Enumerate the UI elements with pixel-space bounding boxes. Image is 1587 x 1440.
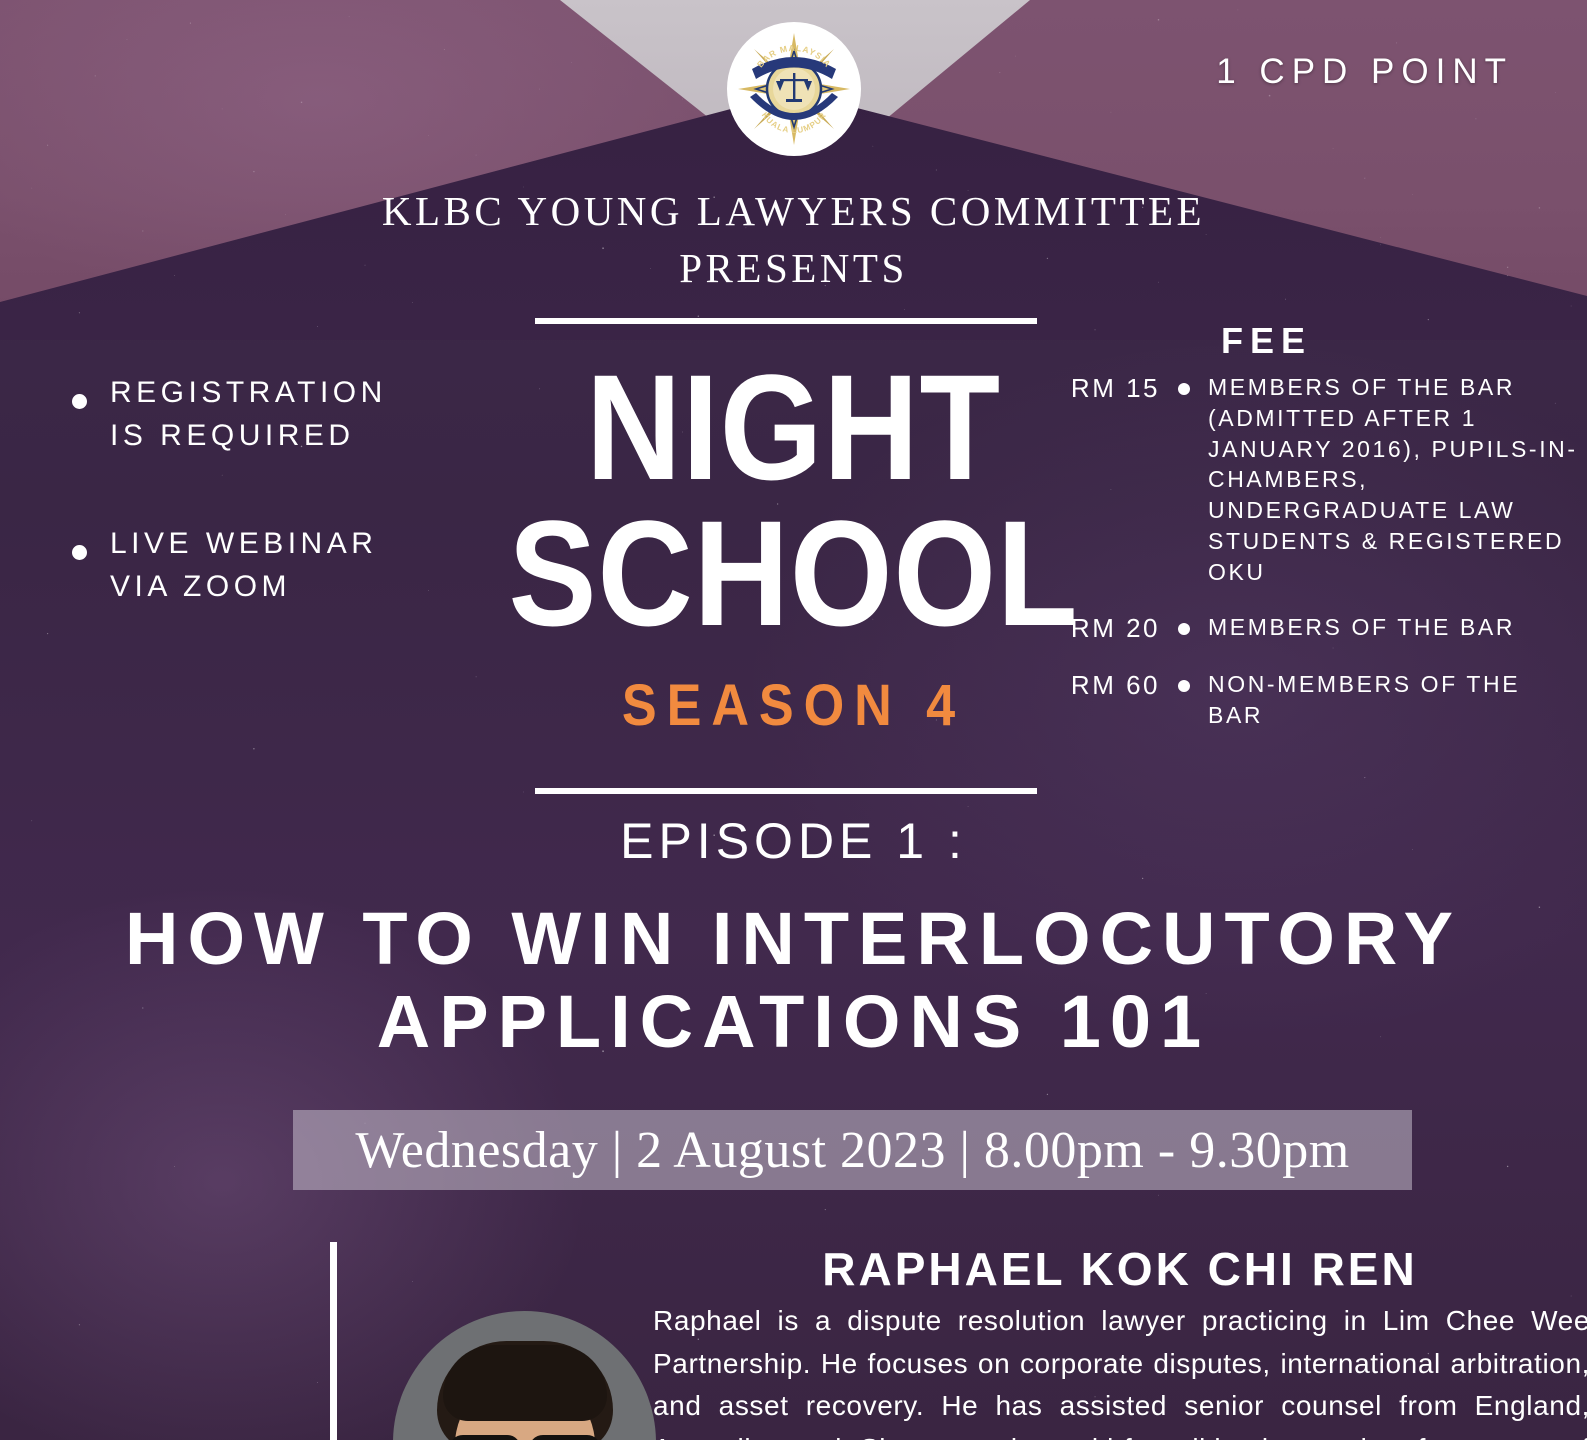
- bullet-dot-icon: [72, 545, 87, 560]
- event-poster: BAR MALAYSIA KUALA LUMPUR 1 CPD POINT KL…: [0, 0, 1587, 1440]
- fee-price: RM 60: [1060, 669, 1160, 702]
- glasses-icon: [449, 1435, 601, 1440]
- episode-label: EPISODE 1 :: [0, 812, 1587, 870]
- schedule-text: Wednesday | 2 August 2023 | 8.00pm - 9.3…: [355, 1121, 1349, 1180]
- bullet-dot-icon: [1178, 383, 1190, 395]
- fee-description: NON-MEMBERS OF THE BAR: [1208, 669, 1580, 731]
- episode-title: HOW TO WIN INTERLOCUTORY APPLICATIONS 10…: [0, 898, 1587, 1064]
- notes-list: REGISTRATION IS REQUIRED LIVE WEBINAR VI…: [72, 372, 462, 674]
- list-item: LIVE WEBINAR VIA ZOOM: [72, 523, 462, 608]
- speaker-bio: Raphael is a dispute resolution lawyer p…: [653, 1300, 1587, 1440]
- note-line-2: IS REQUIRED: [110, 415, 387, 458]
- fee-row: RM 20 MEMBERS OF THE BAR: [1060, 612, 1580, 645]
- list-item: REGISTRATION IS REQUIRED: [72, 372, 462, 457]
- speaker-divider: [330, 1242, 337, 1440]
- lens-left: [449, 1435, 521, 1440]
- fee-row: RM 60 NON-MEMBERS OF THE BAR: [1060, 669, 1580, 731]
- divider-rule-bottom: [535, 788, 1037, 794]
- divider-rule-top: [535, 318, 1037, 324]
- cpd-point-label: 1 CPD POINT: [1216, 52, 1513, 92]
- schedule-banner: Wednesday | 2 August 2023 | 8.00pm - 9.3…: [293, 1110, 1412, 1190]
- fee-price: RM 15: [1060, 372, 1160, 405]
- bullet-dot-icon: [1178, 680, 1190, 692]
- lens-right: [529, 1435, 601, 1440]
- note-text: LIVE WEBINAR VIA ZOOM: [110, 523, 377, 608]
- fee-description: MEMBERS OF THE BAR: [1208, 612, 1515, 643]
- bullet-dot-icon: [72, 394, 87, 409]
- fee-list: RM 15 MEMBERS OF THE BAR (ADMITTED AFTER…: [1060, 372, 1580, 755]
- note-line-1: LIVE WEBINAR: [110, 523, 377, 566]
- speaker-bio-text: Raphael is a dispute resolution lawyer p…: [653, 1300, 1587, 1440]
- presenter-organisation: KLBC YOUNG LAWYERS COMMITTEE: [0, 190, 1587, 233]
- fee-price: RM 20: [1060, 612, 1160, 645]
- fee-heading: FEE: [1221, 320, 1312, 362]
- bullet-dot-icon: [1178, 623, 1190, 635]
- presenter-block: KLBC YOUNG LAWYERS COMMITTEE PRESENTS: [0, 190, 1587, 292]
- presents-label: PRESENTS: [0, 244, 1587, 292]
- bar-malaysia-crest-icon: BAR MALAYSIA KUALA LUMPUR: [727, 22, 861, 156]
- fee-row: RM 15 MEMBERS OF THE BAR (ADMITTED AFTER…: [1060, 372, 1580, 588]
- note-line-1: REGISTRATION: [110, 372, 387, 415]
- episode-title-line2: APPLICATIONS 101: [0, 981, 1587, 1064]
- note-line-2: VIA ZOOM: [110, 566, 377, 609]
- note-text: REGISTRATION IS REQUIRED: [110, 372, 387, 457]
- episode-title-line1: HOW TO WIN INTERLOCUTORY: [0, 898, 1587, 981]
- fringe-shape: [443, 1345, 607, 1421]
- fee-description: MEMBERS OF THE BAR (ADMITTED AFTER 1 JAN…: [1208, 372, 1580, 588]
- speaker-name: RAPHAEL KOK CHI REN: [660, 1242, 1580, 1296]
